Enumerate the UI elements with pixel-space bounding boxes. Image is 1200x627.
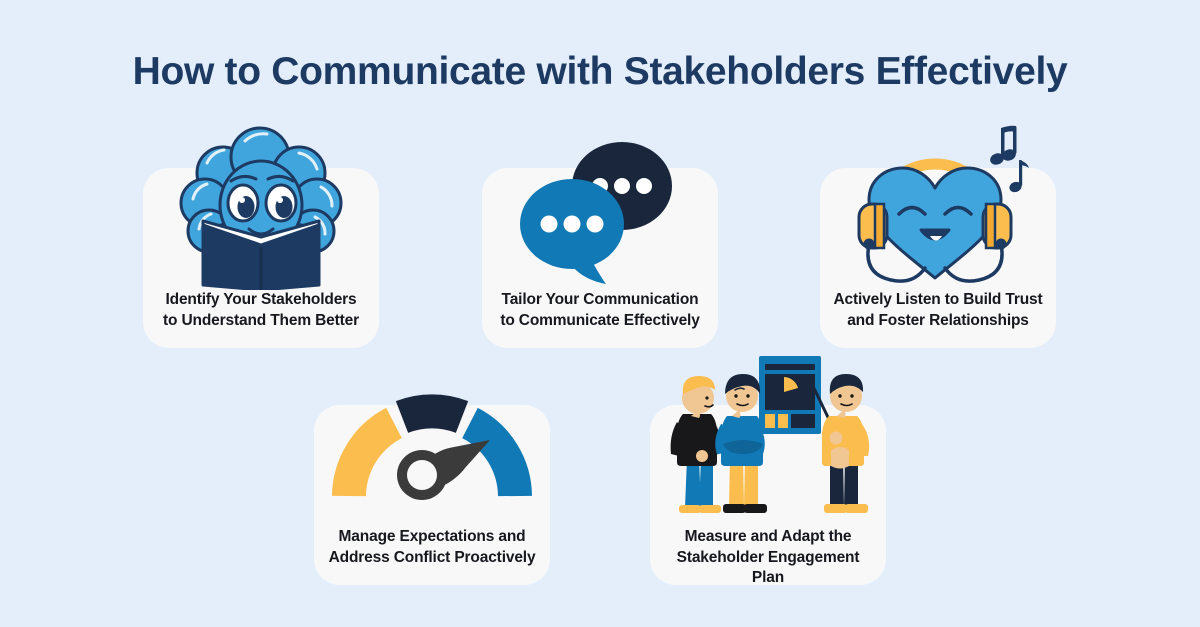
infographic-canvas: How to Communicate with Stakeholders Eff… bbox=[0, 0, 1200, 627]
card-label-line1: Tailor Your Communication bbox=[502, 291, 699, 308]
card-label-line1: Measure and Adapt the bbox=[685, 528, 852, 545]
card-label-line1: Actively Listen to Build Trust bbox=[833, 291, 1042, 308]
card-label-line1: Identify Your Stakeholders bbox=[165, 291, 356, 308]
card-label-line2: to Understand Them Better bbox=[163, 312, 359, 329]
page-title: How to Communicate with Stakeholders Eff… bbox=[0, 50, 1200, 94]
card-label-line2: Address Conflict Proactively bbox=[329, 549, 536, 566]
card-label-actively-listen: Actively Listen to Build Trust and Foste… bbox=[830, 290, 1046, 331]
card-label-line2: to Communicate Effectively bbox=[500, 312, 699, 329]
card-label-tailor-communication: Tailor Your Communication to Communicate… bbox=[492, 290, 708, 331]
card-label-line2: and Foster Relationships bbox=[847, 312, 1029, 329]
card-measure-and-adapt[interactable]: Measure and Adapt the Stakeholder Engage… bbox=[650, 405, 886, 585]
card-label-line1: Manage Expectations and bbox=[339, 528, 526, 545]
card-tailor-communication[interactable]: Tailor Your Communication to Communicate… bbox=[482, 168, 718, 348]
card-actively-listen[interactable]: Actively Listen to Build Trust and Foste… bbox=[820, 168, 1056, 348]
card-label-line2: Stakeholder Engagement Plan bbox=[677, 549, 860, 587]
card-label-identify-stakeholders: Identify Your Stakeholders to Understand… bbox=[153, 290, 369, 331]
card-manage-expectations[interactable]: Manage Expectations and Address Conflict… bbox=[314, 405, 550, 585]
card-identify-stakeholders[interactable]: Identify Your Stakeholders to Understand… bbox=[143, 168, 379, 348]
card-label-measure-and-adapt: Measure and Adapt the Stakeholder Engage… bbox=[660, 527, 876, 589]
card-label-manage-expectations: Manage Expectations and Address Conflict… bbox=[324, 527, 540, 568]
